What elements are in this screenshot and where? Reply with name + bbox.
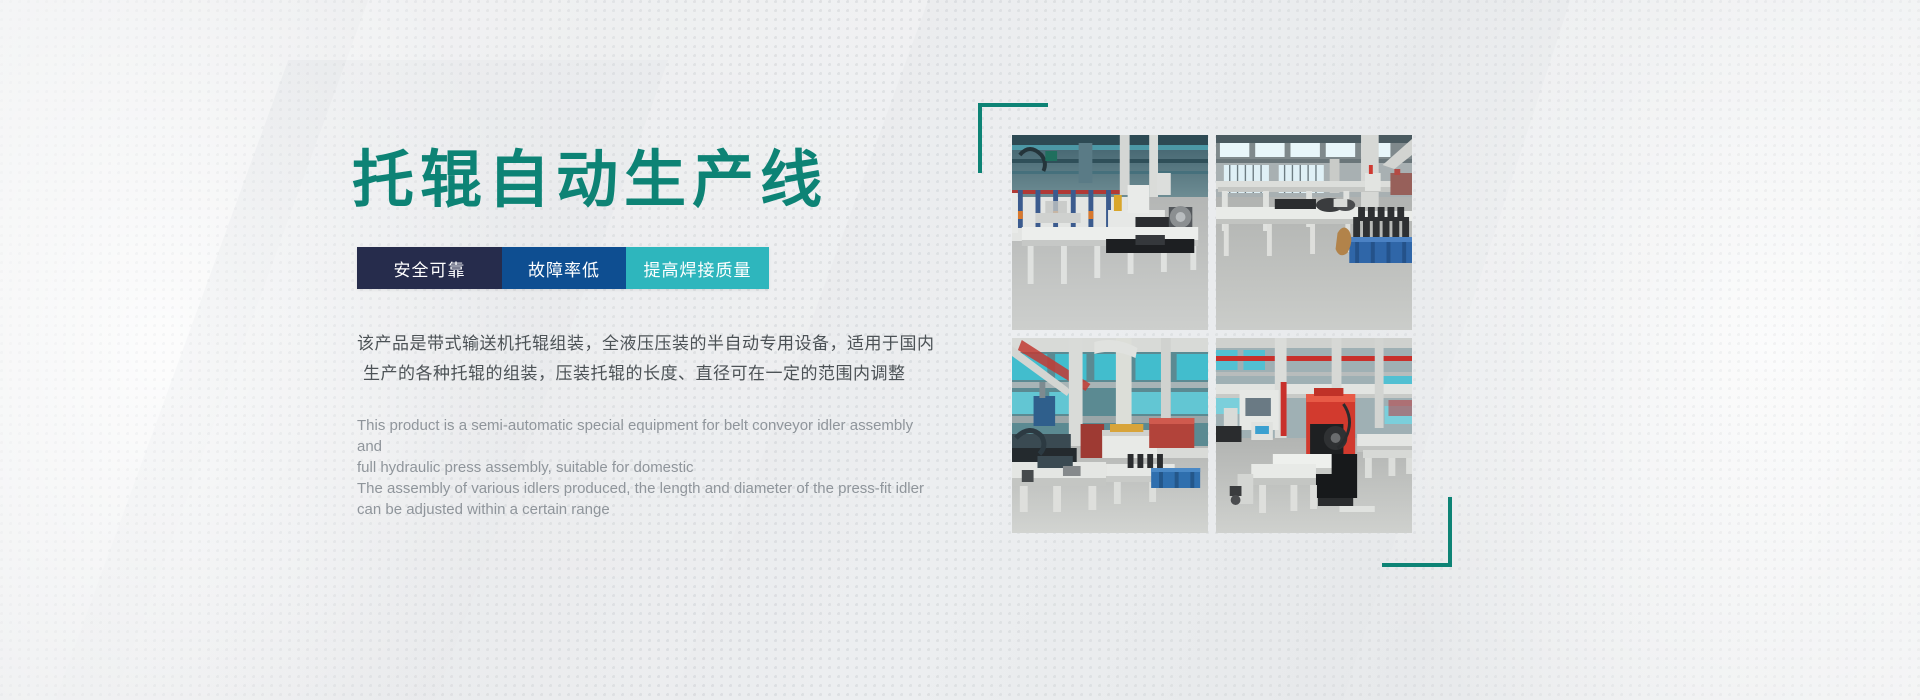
description-chinese-line-1: 该产品是带式输送机托辊组装，全液压压装的半自动专用设备，适用于国内 [357, 329, 952, 359]
feature-tag-weld-quality[interactable]: 提高焊接质量 [626, 247, 769, 289]
feature-tag-failure-rate[interactable]: 故障率低 [502, 247, 626, 289]
description-chinese-line-2: 生产的各种托辊的组装，压装托辊的长度、直径可在一定的范围内调整 [357, 359, 952, 389]
background-dot-pattern [0, 0, 1920, 700]
gallery-photo-1[interactable] [1012, 135, 1208, 330]
product-banner: 托辊自动生产线 安全可靠 故障率低 提高焊接质量 该产品是带式输送机托辊组装，全… [0, 0, 1920, 700]
background-glow-right [1360, 0, 1920, 700]
feature-tag-row: 安全可靠 故障率低 提高焊接质量 [357, 247, 769, 289]
page-title: 托辊自动生产线 [352, 150, 952, 212]
description-english-line-2: full hydraulic press assembly, suitable … [357, 457, 927, 478]
gallery-photo-4[interactable] [1216, 338, 1412, 533]
description-english: This product is a semi-automatic special… [357, 415, 927, 520]
description-english-line-1: This product is a semi-automatic special… [357, 415, 927, 457]
banner-copy-column: 托辊自动生产线 安全可靠 故障率低 提高焊接质量 该产品是带式输送机托辊组装，全… [352, 150, 952, 520]
description-english-line-3: The assembly of various idlers produced,… [357, 478, 927, 499]
gallery-photo-3[interactable] [1012, 338, 1208, 533]
photo-grid [1012, 135, 1412, 533]
description-english-line-4: can be adjusted within a certain range [357, 499, 927, 520]
gallery-photo-2[interactable] [1216, 135, 1412, 330]
description-chinese: 该产品是带式输送机托辊组装，全液压压装的半自动专用设备，适用于国内 生产的各种托… [357, 329, 952, 389]
photo-gallery [1012, 135, 1412, 533]
feature-tag-safety[interactable]: 安全可靠 [357, 247, 502, 289]
